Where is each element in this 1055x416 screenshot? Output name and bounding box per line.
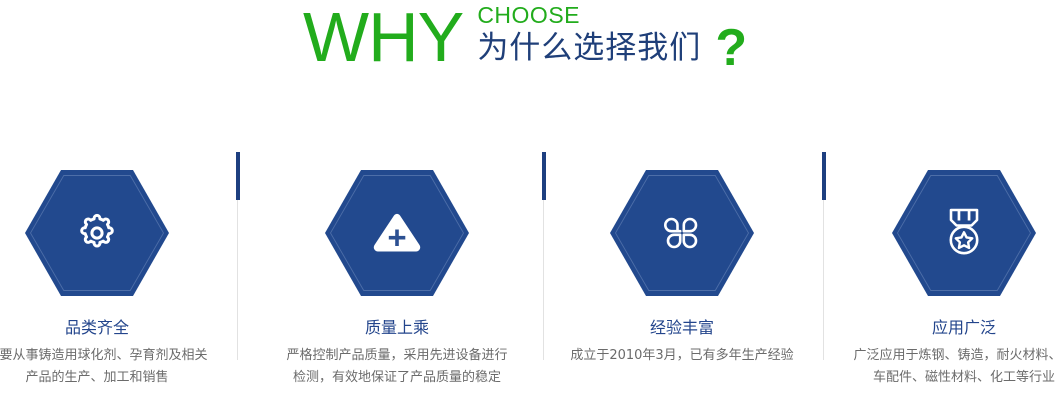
gear-icon	[25, 170, 169, 296]
card-description: 严格控制产品质量，采用先进设备进行检测，有效地保证了产品质量的稳定	[265, 345, 529, 389]
divider-cap	[236, 152, 240, 200]
feature-card-3[interactable]: 经验丰富 成立于2010年3月，已有多年生产经验	[550, 140, 814, 367]
header-question-mark: ?	[715, 22, 747, 74]
feature-cards-row: 品类齐全 主要从事铸造用球化剂、孕育剂及相关产品的生产、加工和销售 质量上乘 严…	[0, 140, 1055, 416]
card-title: 品类齐全	[0, 318, 229, 338]
card-description: 主要从事铸造用球化剂、孕育剂及相关产品的生产、加工和销售	[0, 345, 229, 389]
card-divider-3	[822, 152, 826, 412]
divider-tail	[823, 200, 824, 360]
card-title: 应用广泛	[832, 318, 1055, 338]
card-divider-1	[236, 152, 240, 412]
feature-card-4[interactable]: 应用广泛 广泛应用于炼钢、铸造，耐火材料、汽车配件、磁性材料、化工等行业	[832, 140, 1055, 389]
triangle-plus-icon	[325, 170, 469, 296]
card-divider-2	[542, 152, 546, 412]
header-why-word: WHY	[303, 2, 463, 72]
hexagon-badge-4	[892, 170, 1036, 296]
card-title: 质量上乘	[265, 318, 529, 338]
feature-card-2[interactable]: 质量上乘 严格控制产品质量，采用先进设备进行检测，有效地保证了产品质量的稳定	[265, 140, 529, 389]
hexagon-badge-1	[25, 170, 169, 296]
header-choose-word: CHOOSE	[477, 2, 701, 28]
header-chinese-title: 为什么选择我们	[477, 29, 701, 67]
hexagon-badge-3	[610, 170, 754, 296]
header-inner: WHY CHOOSE 为什么选择我们 ?	[303, 0, 747, 74]
divider-cap	[542, 152, 546, 200]
card-description: 广泛应用于炼钢、铸造，耐火材料、汽车配件、磁性材料、化工等行业	[832, 345, 1055, 389]
divider-tail	[237, 200, 238, 360]
feature-card-1[interactable]: 品类齐全 主要从事铸造用球化剂、孕育剂及相关产品的生产、加工和销售	[0, 140, 229, 389]
card-description: 成立于2010年3月，已有多年生产经验	[550, 345, 814, 367]
medal-star-icon	[892, 170, 1036, 296]
hexagon-badge-2	[325, 170, 469, 296]
header-text-stack: CHOOSE 为什么选择我们	[477, 2, 701, 67]
divider-cap	[822, 152, 826, 200]
four-petal-clover-icon	[610, 170, 754, 296]
card-title: 经验丰富	[550, 318, 814, 338]
section-header: WHY CHOOSE 为什么选择我们 ?	[0, 0, 1055, 92]
divider-tail	[543, 200, 544, 360]
